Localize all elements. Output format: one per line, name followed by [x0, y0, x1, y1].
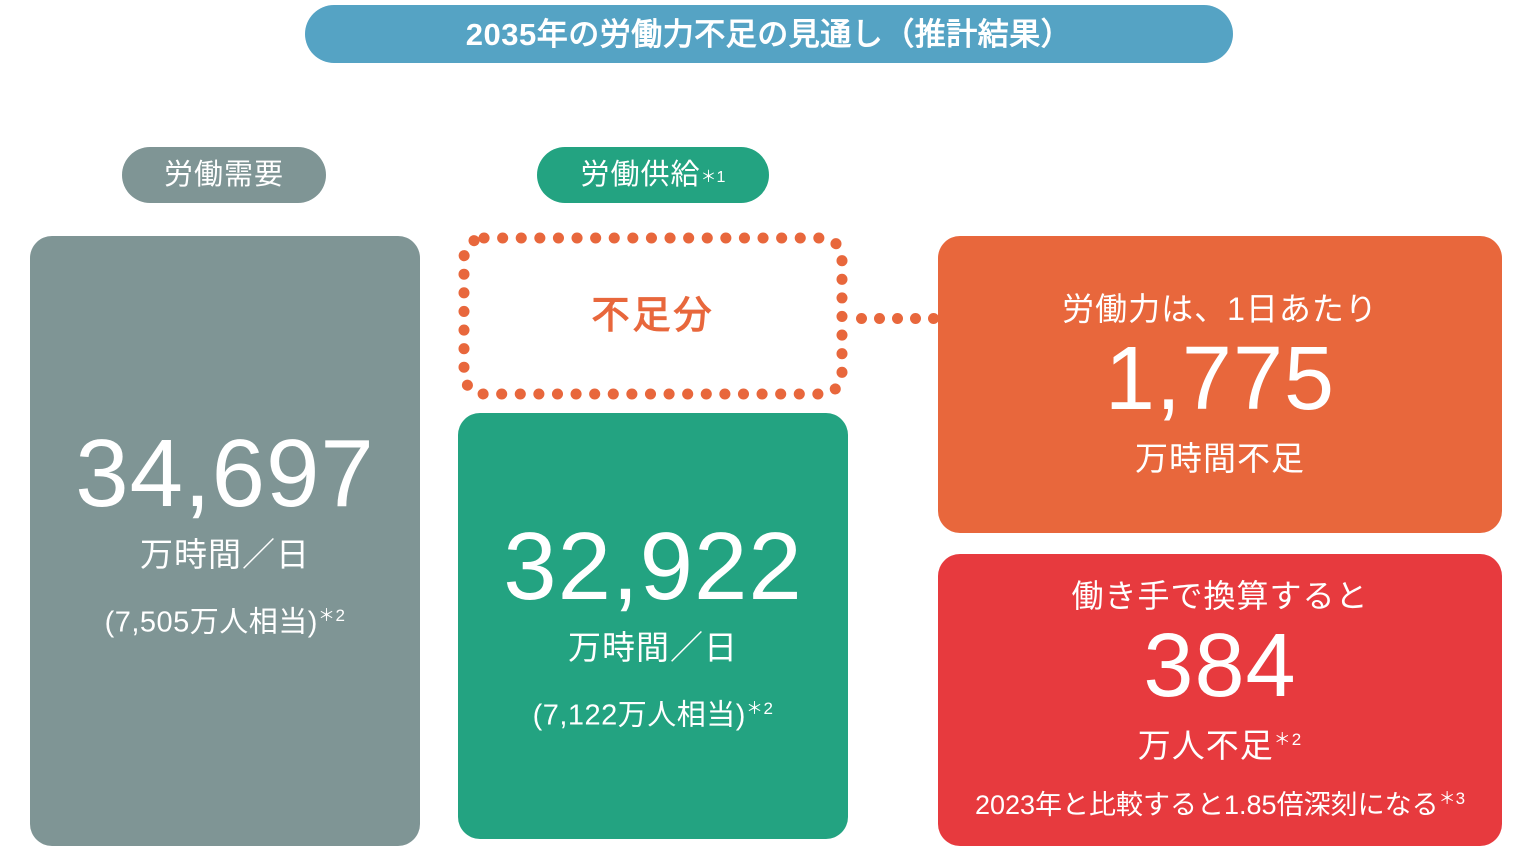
card-labor-supply-subtext-value: (7,122万人相当) — [533, 700, 746, 732]
label-pill-labor-supply-footnote: ＊1 — [701, 163, 726, 187]
page-title-banner: 2035年の労働力不足の見通し（推計結果） — [305, 5, 1233, 63]
card-shortage-people-value: 384 — [1143, 624, 1296, 710]
card-labor-demand-value: 34,697 — [75, 428, 375, 519]
card-shortage-people-note-text: 2023年と比較すると1.85倍深刻になる — [975, 790, 1439, 820]
card-labor-demand-subtext-footnote: ＊2 — [318, 606, 345, 625]
label-pill-labor-demand-text: 労働需要 — [164, 161, 284, 190]
card-shortage-hours-lead: 労働力は、1日あたり — [1062, 292, 1378, 327]
card-shortage-people-note-footnote: ＊3 — [1439, 789, 1465, 808]
label-pill-labor-supply-text: 労働供給 — [581, 161, 701, 190]
connector-dot — [892, 313, 903, 324]
card-shortage-people-note: 2023年と比較すると1.85倍深刻になる＊3 — [975, 790, 1465, 821]
card-shortage-people: 働き手で換算すると 384 万人不足＊2 2023年と比較すると1.85倍深刻に… — [938, 554, 1502, 846]
card-labor-demand-subtext: (7,505万人相当)＊2 — [105, 607, 346, 640]
connector-dot — [874, 313, 885, 324]
label-pill-labor-demand: 労働需要 — [122, 147, 326, 203]
card-shortage-people-lead: 働き手で換算すると — [1071, 579, 1368, 614]
connector-dot — [856, 313, 867, 324]
card-labor-demand-subtext-value: (7,505万人相当) — [105, 607, 318, 639]
card-labor-supply: 32,922 万時間／日 (7,122万人相当)＊2 — [458, 413, 848, 839]
card-shortage-people-unit: 万人不足＊2 — [1138, 728, 1302, 764]
card-labor-supply-value: 32,922 — [503, 521, 803, 612]
card-shortage-hours-value: 1,775 — [1105, 337, 1335, 423]
card-shortage-people-unit-footnote: ＊2 — [1274, 730, 1302, 749]
card-labor-supply-subtext-footnote: ＊2 — [746, 699, 773, 718]
connector-dot — [910, 313, 921, 324]
connector-dotted-line — [856, 313, 940, 327]
card-labor-demand: 34,697 万時間／日 (7,505万人相当)＊2 — [30, 236, 420, 846]
card-labor-supply-subtext: (7,122万人相当)＊2 — [533, 700, 774, 733]
card-shortage-hours-unit: 万時間不足 — [1135, 441, 1305, 477]
card-shortage-people-unit-text: 万人不足 — [1138, 727, 1274, 764]
shortage-gap-label: 不足分 — [591, 297, 714, 335]
card-labor-supply-unit: 万時間／日 — [568, 630, 738, 666]
page-title: 2035年の労働力不足の見通し（推計結果） — [466, 19, 1072, 50]
shortage-gap-box: 不足分 — [458, 232, 848, 400]
card-shortage-hours: 労働力は、1日あたり 1,775 万時間不足 — [938, 236, 1502, 533]
label-pill-labor-supply: 労働供給＊1 — [537, 147, 769, 203]
card-labor-demand-unit: 万時間／日 — [140, 537, 310, 573]
